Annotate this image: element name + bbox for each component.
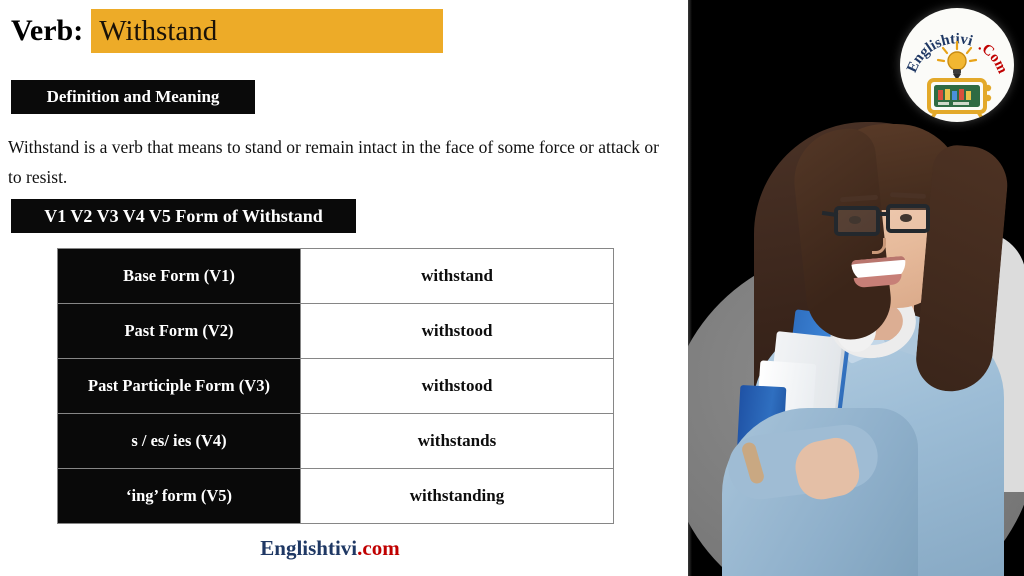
forms-banner: V1 V2 V3 V4 V5 Form of Withstand bbox=[11, 199, 356, 233]
definition-banner: Definition and Meaning bbox=[11, 80, 255, 114]
verb-value: Withstand bbox=[91, 17, 217, 46]
forms-banner-label: V1 V2 V3 V4 V5 Form of Withstand bbox=[44, 206, 323, 227]
verb-highlight-box: Withstand bbox=[91, 9, 443, 53]
table-row: Base Form (V1) withstand bbox=[58, 249, 614, 304]
eyeglass-lens-left bbox=[834, 206, 880, 236]
verb-title-row: Verb: Withstand bbox=[11, 9, 443, 53]
definition-banner-label: Definition and Meaning bbox=[47, 87, 220, 107]
footer-brand-name: Englishtivi bbox=[260, 536, 357, 560]
photo-panel: Englishtivi .Com bbox=[688, 0, 1024, 576]
table-row: Past Form (V2) withstood bbox=[58, 304, 614, 359]
form-label-v1: Base Form (V1) bbox=[58, 249, 301, 304]
footer-brand: Englishtivi.com bbox=[0, 536, 660, 561]
form-label-v3: Past Participle Form (V3) bbox=[58, 359, 301, 414]
verb-forms-table: Base Form (V1) withstand Past Form (V2) … bbox=[57, 248, 614, 524]
definition-paragraph: Withstand is a verb that means to stand … bbox=[8, 132, 660, 192]
svg-text:.Com: .Com bbox=[976, 38, 1011, 76]
verb-label: Verb: bbox=[11, 9, 91, 53]
eyeglass-lens-right bbox=[886, 204, 930, 233]
form-value-v3: withstood bbox=[301, 359, 614, 414]
englishtivi-logo-badge[interactable]: Englishtivi .Com bbox=[900, 8, 1014, 122]
eyeglass-bridge bbox=[878, 212, 890, 216]
svg-text:Englishtivi: Englishtivi bbox=[904, 31, 974, 75]
form-label-v5: ‘ing’ form (V5) bbox=[58, 469, 301, 524]
table-row: ‘ing’ form (V5) withstanding bbox=[58, 469, 614, 524]
table-row: s / es/ ies (V4) withstands bbox=[58, 414, 614, 469]
form-value-v2: withstood bbox=[301, 304, 614, 359]
table-row: Past Participle Form (V3) withstood bbox=[58, 359, 614, 414]
form-label-v2: Past Form (V2) bbox=[58, 304, 301, 359]
footer-brand-tld: .com bbox=[357, 536, 400, 560]
poster-root: Verb: Withstand Definition and Meaning W… bbox=[0, 0, 1024, 576]
logo-icon: Englishtivi .Com bbox=[900, 8, 1014, 122]
form-value-v1: withstand bbox=[301, 249, 614, 304]
form-label-v4: s / es/ ies (V4) bbox=[58, 414, 301, 469]
form-value-v5: withstanding bbox=[301, 469, 614, 524]
verb-forms-table-body: Base Form (V1) withstand Past Form (V2) … bbox=[58, 249, 614, 524]
form-value-v4: withstands bbox=[301, 414, 614, 469]
content-panel: Verb: Withstand Definition and Meaning W… bbox=[0, 0, 688, 576]
